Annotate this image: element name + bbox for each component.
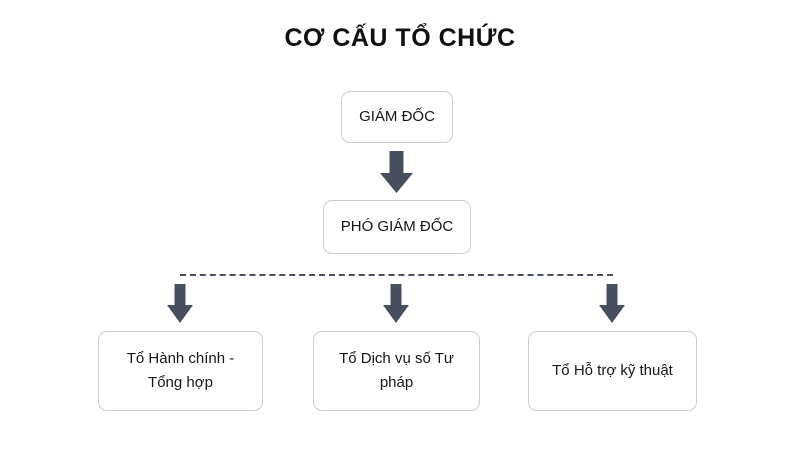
node-director[interactable]: GIÁM ĐỐC [341, 91, 453, 143]
node-unit-technical-support[interactable]: Tổ Hỗ trợ kỹ thuật [528, 331, 697, 411]
down-arrow-icon-unit-1 [167, 284, 193, 323]
node-unit-1-label: Tổ Hành chính - Tổng hợp [127, 347, 235, 395]
org-chart-canvas: CƠ CẤU TỔ CHỨC GIÁM ĐỐC PHÓ GIÁM ĐỐC Tổ … [0, 0, 800, 461]
node-unit-administration[interactable]: Tổ Hành chính - Tổng hợp [98, 331, 263, 411]
node-unit-digital-legal-services[interactable]: Tổ Dịch vụ số Tư pháp [313, 331, 480, 411]
node-unit-3-label: Tổ Hỗ trợ kỹ thuật [552, 359, 673, 383]
down-arrow-icon-unit-2 [383, 284, 409, 323]
page-title: CƠ CẤU TỔ CHỨC [0, 22, 800, 54]
down-arrow-icon-unit-3 [599, 284, 625, 323]
down-arrow-icon-director-to-vice [380, 151, 413, 193]
dashed-distribution-line [180, 274, 613, 276]
node-vice-director-label: PHÓ GIÁM ĐỐC [341, 215, 454, 239]
node-vice-director[interactable]: PHÓ GIÁM ĐỐC [323, 200, 471, 254]
node-director-label: GIÁM ĐỐC [359, 105, 435, 129]
node-unit-2-label: Tổ Dịch vụ số Tư pháp [339, 347, 454, 395]
